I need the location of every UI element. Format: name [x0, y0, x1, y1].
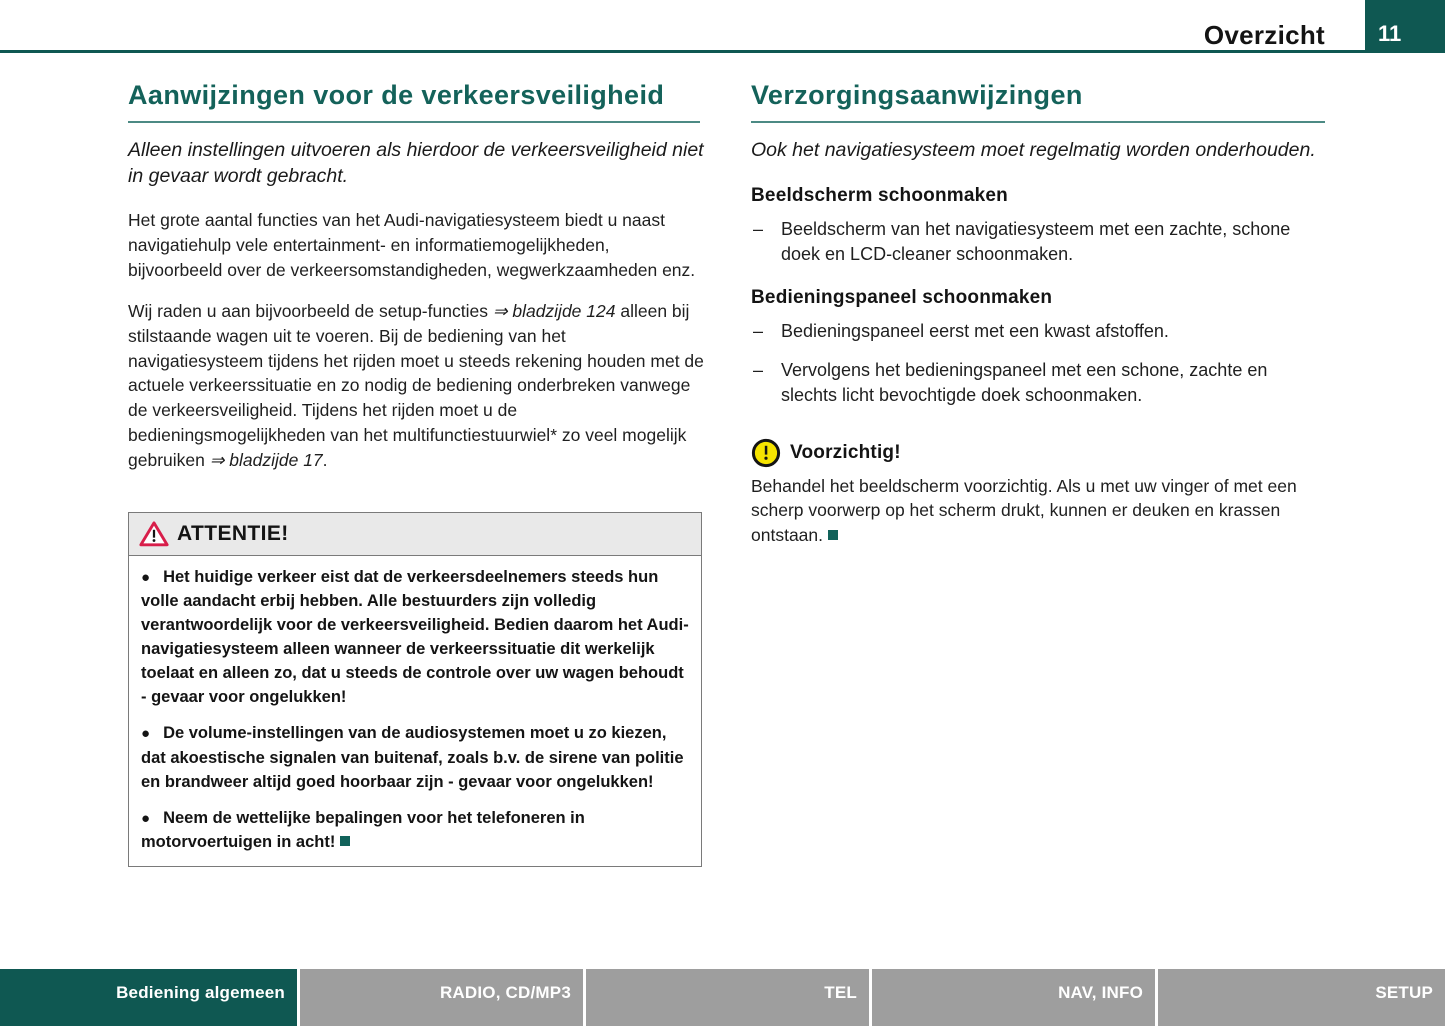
- footer-tab-nav-info[interactable]: NAV, INFO: [872, 969, 1158, 1026]
- list-item: –Beeldscherm van het navigatiesysteem me…: [751, 217, 1327, 267]
- left-paragraph-2: Wij raden u aan bijvoorbeeld de setup-fu…: [128, 299, 704, 473]
- caution-header: Voorzichtig!: [751, 438, 1327, 468]
- paragraph2-text-1: Wij raden u aan bijvoorbeeld de setup-fu…: [128, 301, 493, 321]
- list-item-text: Beeldscherm van het navigatiesysteem met…: [781, 219, 1290, 264]
- footer-tab-label: SETUP: [1375, 983, 1433, 1003]
- attention-box-body: ●Het huidige verkeer eist dat de verkeer…: [129, 556, 701, 866]
- footer-tab-label: RADIO, CD/MP3: [440, 983, 571, 1003]
- dash-marker: –: [753, 319, 763, 344]
- bullet-marker: ●: [141, 569, 163, 586]
- footer-tab-tel[interactable]: TEL: [586, 969, 872, 1026]
- beeldscherm-list: –Beeldscherm van het navigatiesysteem me…: [751, 217, 1327, 267]
- attention-item: ●Het huidige verkeer eist dat de verkeer…: [141, 565, 689, 709]
- footer-tab-bediening-algemeen[interactable]: Bediening algemeen: [0, 969, 300, 1026]
- bedieningspaneel-list: –Bedieningspaneel eerst met een kwast af…: [751, 319, 1327, 407]
- footer-tab-label: NAV, INFO: [1058, 983, 1143, 1003]
- right-section-title: Verzorgingsaanwijzingen: [751, 80, 1327, 116]
- dash-marker: –: [753, 358, 763, 383]
- page-title: Overzicht: [1204, 20, 1325, 51]
- list-item: –Bedieningspaneel eerst met een kwast af…: [751, 319, 1327, 344]
- end-of-section-marker: [340, 836, 350, 846]
- warning-triangle-icon: [139, 520, 169, 548]
- attention-item: ●Neem de wettelijke bepalingen voor het …: [141, 806, 689, 854]
- attention-label: ATTENTIE!: [177, 522, 289, 546]
- footer-tab-radio-cd-mp3[interactable]: RADIO, CD/MP3: [300, 969, 586, 1026]
- end-of-section-marker: [828, 530, 838, 540]
- bullet-marker: ●: [141, 725, 163, 742]
- footer-tab-label: Bediening algemeen: [116, 983, 285, 1003]
- page-header: Overzicht 11: [0, 0, 1445, 55]
- attention-item-text: Neem de wettelijke bepalingen voor het t…: [141, 809, 585, 851]
- paragraph2-text-3: .: [323, 450, 328, 470]
- cross-reference-page-124[interactable]: ⇒ bladzijde 124: [493, 301, 616, 321]
- header-rule: [0, 50, 1368, 53]
- footer-tab-label: TEL: [824, 983, 857, 1003]
- subheading-bedieningspaneel-schoonmaken: Bedieningspaneel schoonmaken: [751, 287, 1327, 309]
- right-title-rule: [751, 121, 1325, 123]
- caution-circle-icon: [751, 438, 781, 468]
- paragraph2-text-2: alleen bij stilstaande wagen uit te voer…: [128, 301, 704, 470]
- footer-nav: Bediening algemeen RADIO, CD/MP3 TEL NAV…: [0, 969, 1445, 1026]
- left-paragraph-1: Het grote aantal functies van het Audi-n…: [128, 208, 704, 283]
- page-number-box: [1365, 0, 1445, 53]
- left-lead-paragraph: Alleen instellingen uitvoeren als hierdo…: [128, 137, 704, 191]
- left-section-title: Aanwijzingen voor de verkeersveiligheid: [128, 80, 704, 116]
- left-title-rule: [128, 121, 700, 123]
- attention-item-text: Het huidige verkeer eist dat de verkeers…: [141, 568, 689, 706]
- list-item: –Vervolgens het bedieningspaneel met een…: [751, 358, 1327, 408]
- subheading-beeldscherm-schoonmaken: Beeldscherm schoonmaken: [751, 185, 1327, 207]
- left-column: Aanwijzingen voor de verkeersveiligheid …: [128, 80, 704, 489]
- attention-item: ●De volume-instellingen van de audiosyst…: [141, 721, 689, 793]
- attention-box-header: ATTENTIE!: [129, 513, 701, 556]
- caution-body-text: Behandel het beeldscherm voorzichtig. Al…: [751, 474, 1327, 549]
- caution-label: Voorzichtig!: [790, 442, 901, 464]
- footer-tab-setup[interactable]: SETUP: [1158, 969, 1445, 1026]
- right-lead-paragraph: Ook het navigatiesysteem moet regelmatig…: [751, 137, 1327, 164]
- page-number: 11: [1378, 21, 1401, 47]
- attention-item-text: De volume-instellingen van de audiosyste…: [141, 724, 684, 790]
- list-item-text: Vervolgens het bedieningspaneel met een …: [781, 360, 1267, 405]
- bullet-marker: ●: [141, 810, 163, 827]
- list-item-text: Bedieningspaneel eerst met een kwast afs…: [781, 321, 1169, 341]
- dash-marker: –: [753, 217, 763, 242]
- right-column: Verzorgingsaanwijzingen Ook het navigati…: [751, 80, 1327, 548]
- cross-reference-page-17[interactable]: ⇒ bladzijde 17: [210, 450, 323, 470]
- attention-box: ATTENTIE! ●Het huidige verkeer eist dat …: [128, 512, 702, 867]
